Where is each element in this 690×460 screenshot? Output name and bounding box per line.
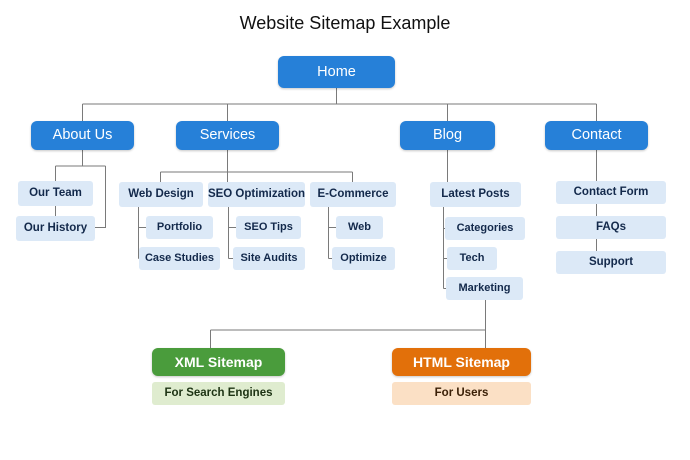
- node-categories[interactable]: Categories: [445, 217, 525, 240]
- node-faqs[interactable]: FAQs: [556, 216, 666, 239]
- node-web[interactable]: Web: [336, 216, 383, 239]
- node-services[interactable]: Services: [176, 121, 279, 150]
- node-for-users: For Users: [392, 382, 531, 405]
- node-html-sitemap[interactable]: HTML Sitemap: [392, 348, 531, 376]
- node-support[interactable]: Support: [556, 251, 666, 274]
- node-contact[interactable]: Contact: [545, 121, 648, 150]
- node-case-studies[interactable]: Case Studies: [139, 247, 220, 270]
- node-latest-posts[interactable]: Latest Posts: [430, 182, 521, 207]
- node-blog[interactable]: Blog: [400, 121, 495, 150]
- node-marketing[interactable]: Marketing: [446, 277, 523, 300]
- sitemap-diagram: Website Sitemap Example: [0, 0, 690, 460]
- node-seo-optimization[interactable]: SEO Optimization: [208, 182, 305, 207]
- node-seo-tips[interactable]: SEO Tips: [236, 216, 301, 239]
- node-web-design[interactable]: Web Design: [119, 182, 203, 207]
- node-our-team[interactable]: Our Team: [18, 181, 93, 206]
- node-for-search-engines: For Search Engines: [152, 382, 285, 405]
- node-tech[interactable]: Tech: [447, 247, 497, 270]
- node-portfolio[interactable]: Portfolio: [146, 216, 213, 239]
- node-site-audits[interactable]: Site Audits: [233, 247, 305, 270]
- node-our-history[interactable]: Our History: [16, 216, 95, 241]
- node-about-us[interactable]: About Us: [31, 121, 134, 150]
- node-optimize[interactable]: Optimize: [332, 247, 395, 270]
- node-e-commerce[interactable]: E-Commerce: [310, 182, 396, 207]
- page-title: Website Sitemap Example: [0, 13, 690, 34]
- node-home[interactable]: Home: [278, 56, 395, 88]
- node-contact-form[interactable]: Contact Form: [556, 181, 666, 204]
- node-xml-sitemap[interactable]: XML Sitemap: [152, 348, 285, 376]
